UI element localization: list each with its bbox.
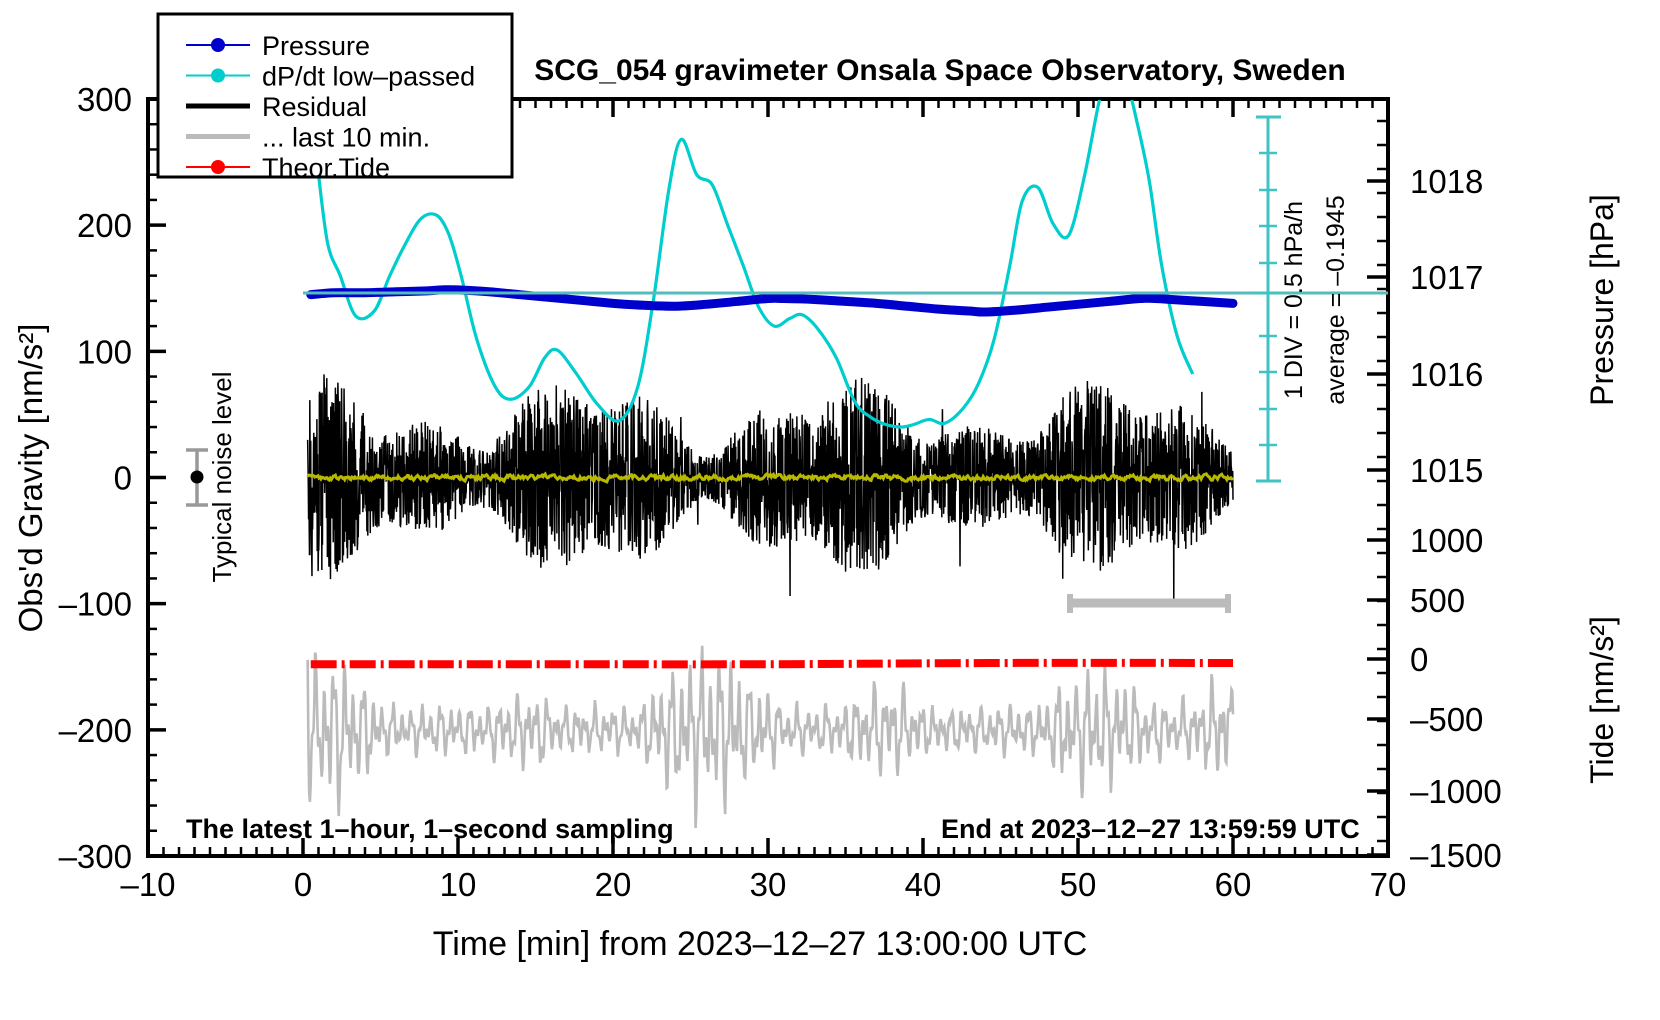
page-title: SCG_054 gravimeter Onsala Space Observat… xyxy=(534,54,1346,87)
pressure-tick-label: 1018 xyxy=(1410,163,1483,200)
pressure-tick-label: 1015 xyxy=(1410,452,1483,489)
trace-theor-tide xyxy=(311,663,1233,664)
noise-bar-marker xyxy=(191,471,204,484)
sampling-note: The latest 1–hour, 1–second sampling xyxy=(186,814,674,844)
y-tick-label: 0 xyxy=(114,460,132,497)
x-tick-label: 70 xyxy=(1370,866,1407,903)
x-tick-label: 60 xyxy=(1215,866,1252,903)
pressure-tick-label: 1017 xyxy=(1410,259,1483,296)
y-axis-title: Obs'd Gravity [nm/s²] xyxy=(12,324,49,633)
x-tick-label: 20 xyxy=(595,866,632,903)
x-tick-label: 30 xyxy=(750,866,787,903)
y-tick-label: 100 xyxy=(77,333,132,370)
end-time-note: End at 2023–12–27 13:59:59 UTC xyxy=(941,814,1360,844)
legend-label[interactable]: ... last 10 min. xyxy=(262,123,430,153)
tide-axis-title: Tide [nm/s²] xyxy=(1584,616,1620,784)
pressure-axis-title: Pressure [hPa] xyxy=(1584,194,1620,406)
dpdt-average-label: average = –0.1945 xyxy=(1322,195,1350,404)
div-scale-label: 1 DIV = 0.5 hPa/h xyxy=(1280,201,1308,399)
legend-label[interactable]: Theor.Tide xyxy=(262,153,390,183)
y-tick-label: –200 xyxy=(59,712,132,749)
legend-label[interactable]: dP/dt low–passed xyxy=(262,62,475,92)
legend-marker-dot xyxy=(211,160,225,174)
y-tick-label: 200 xyxy=(77,207,132,244)
legend-marker-dot xyxy=(211,38,225,52)
legend-marker-dot xyxy=(211,69,225,83)
tide-tick-label: –500 xyxy=(1410,701,1483,738)
y-tick-label: –100 xyxy=(59,586,132,623)
gravimeter-chart: –10010203040506070 3002001000–100–200–30… xyxy=(0,0,1660,1020)
typical-noise-level-label: Typical noise level xyxy=(207,372,237,583)
legend-label[interactable]: Residual xyxy=(262,92,367,122)
tide-tick-label: 0 xyxy=(1410,641,1428,678)
tide-tick-label: 1000 xyxy=(1410,522,1483,559)
legend-label[interactable]: Pressure xyxy=(262,31,370,61)
x-axis-title: Time [min] from 2023–12–27 13:00:00 UTC xyxy=(433,925,1088,963)
x-tick-label: 40 xyxy=(905,866,942,903)
y-tick-label: –300 xyxy=(59,838,132,875)
tide-tick-label: –1500 xyxy=(1410,837,1502,874)
y-tick-label: 300 xyxy=(77,81,132,118)
tide-tick-label: 500 xyxy=(1410,582,1465,619)
tide-tick-label: –1000 xyxy=(1410,773,1502,810)
x-tick-label: 10 xyxy=(440,866,477,903)
legend[interactable]: PressuredP/dt low–passedResidual... last… xyxy=(158,14,512,183)
chart-root: –10010203040506070 3002001000–100–200–30… xyxy=(0,0,1660,1020)
x-tick-label: 0 xyxy=(294,866,312,903)
x-tick-label: 50 xyxy=(1060,866,1097,903)
pressure-tick-label: 1016 xyxy=(1410,356,1483,393)
